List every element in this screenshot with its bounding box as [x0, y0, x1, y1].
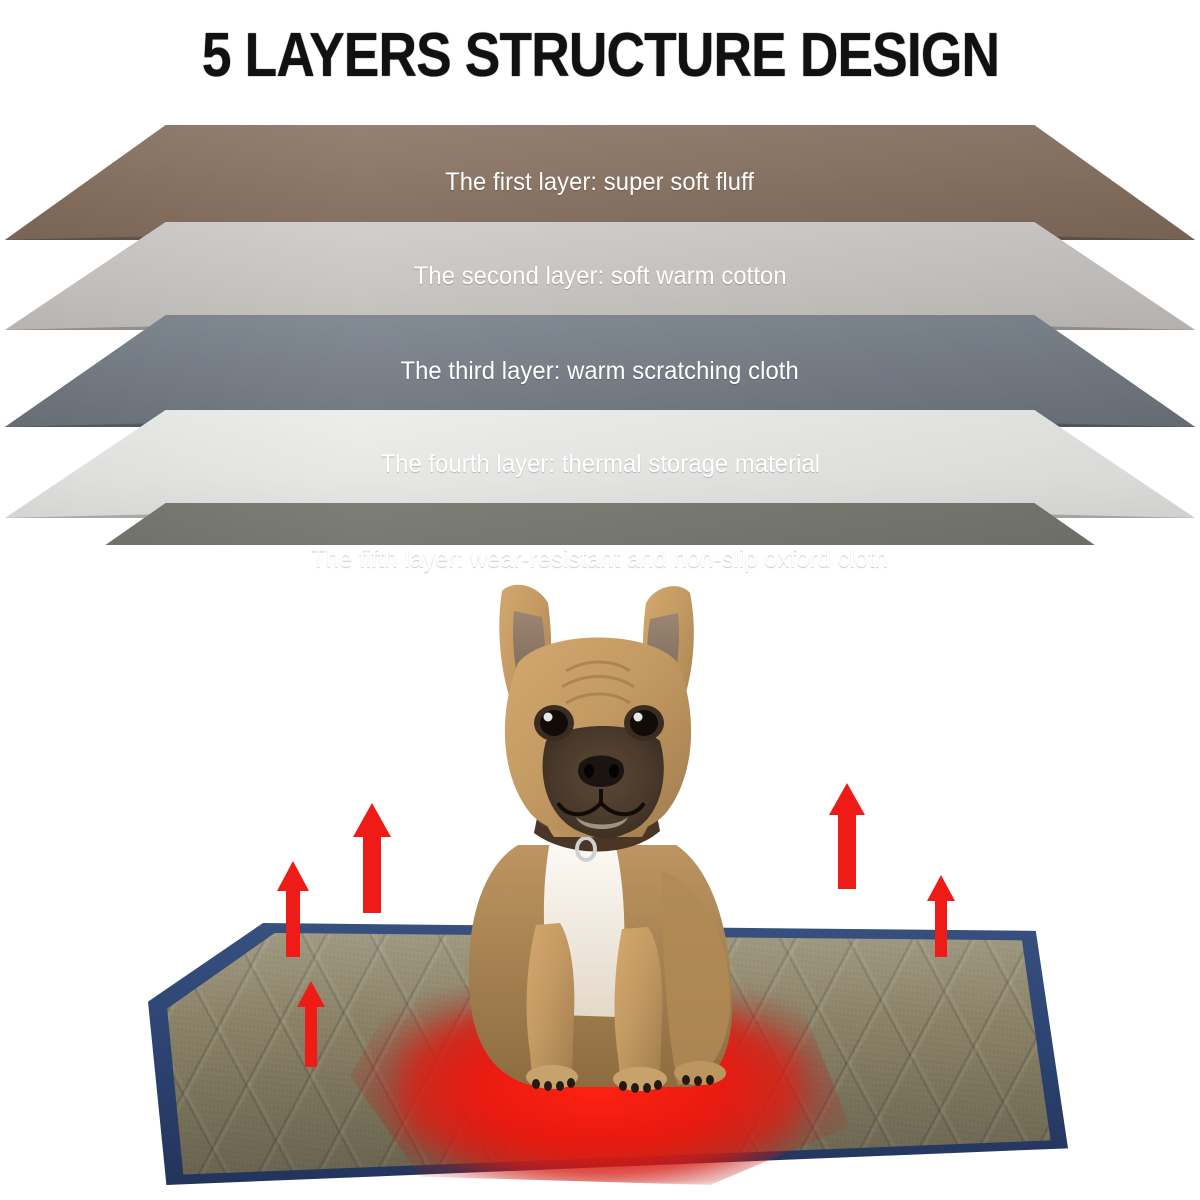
heat-arrow-4 [828, 783, 866, 889]
heat-arrow-3 [296, 981, 326, 1067]
heat-arrow-2 [352, 803, 392, 913]
layer-2-soft-warm-cotton: The second layer: soft warm cotton [0, 222, 1200, 330]
dog-nose [578, 756, 624, 788]
page-title-container: 5 LAYERS STRUCTURE DESIGN [0, 0, 1200, 110]
dog-front-leg-left [527, 923, 575, 1082]
product-photo [0, 545, 1200, 1200]
layer-4-thermal-storage-material: The fourth layer: thermal storage materi… [0, 410, 1200, 518]
heat-arrow-1 [276, 861, 310, 957]
page-title: 5 LAYERS STRUCTURE DESIGN [201, 20, 998, 91]
dog-front-leg-right [615, 927, 663, 1084]
heat-arrow-5 [926, 875, 956, 957]
layer-4-plate [0, 410, 1200, 518]
layer-2-plate [0, 222, 1200, 330]
french-bulldog-photo [390, 545, 790, 1105]
layer-stack-diagram: The first layer: super soft fluff The se… [0, 125, 1200, 545]
